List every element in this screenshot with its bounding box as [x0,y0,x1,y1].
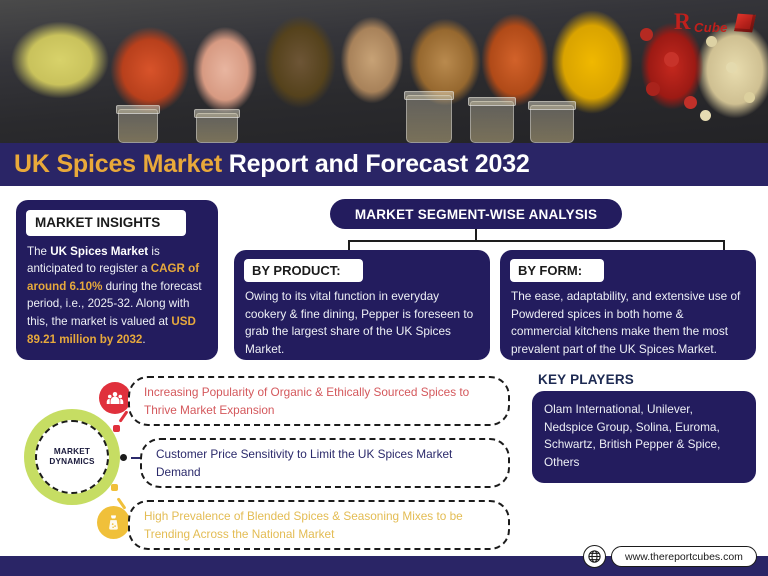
website-url: www.thereportcubes.com [625,551,743,563]
dynamics-dot-gold [111,484,118,491]
spice-blend-icon [97,506,130,539]
by-form-text: The ease, adaptability, and extensive us… [511,288,744,359]
spice-jar [118,109,158,143]
logo-r-mark: Я [674,10,691,33]
white-peppercorn [744,92,755,103]
dynamics-item-2-text: Customer Price Sensitivity to Limit the … [142,445,508,482]
insights-market-name: UK Spices Market [50,245,148,258]
white-peppercorn [700,110,711,121]
spice-jar [406,95,452,143]
by-product-text: Owing to its vital function in everyday … [245,288,478,359]
by-product-label: BY PRODUCT: [244,259,363,282]
market-dynamics-line2: DYNAMICS [49,457,94,467]
market-insights-card: MARKET INSIGHTS The UK Spices Market is … [16,200,218,360]
key-players-card: Olam International, Unilever, Nedspice G… [532,391,756,483]
dynamics-item-3-text: High Prevalence of Blended Spices & Seas… [130,507,508,544]
globe-icon [583,545,606,568]
connector-bar [348,240,725,242]
peppercorn [646,82,660,96]
segment-card-by-form: BY FORM: The ease, adaptability, and ext… [500,250,756,360]
logo-wordmark: Cube [694,20,728,35]
peppercorn [684,96,697,109]
market-insights-body: The UK Spices Market is anticipated to r… [27,243,207,349]
website-url-pill[interactable]: www.thereportcubes.com [611,546,757,567]
cube-icon [734,14,756,33]
insights-text-g: . [142,333,145,346]
infographic-page: Я Cube UK Spices Market Report and Forec… [0,0,768,576]
segment-analysis-label: MARKET SEGMENT-WISE ANALYSIS [355,207,597,222]
dynamics-item-2: Customer Price Sensitivity to Limit the … [140,438,510,488]
market-dynamics-inner: MARKET DYNAMICS [35,420,109,494]
market-dynamics-line1: MARKET [54,447,90,457]
peppercorn [664,52,679,67]
insights-text-a: The [27,245,50,258]
peppercorn [640,28,653,41]
group-people-icon [99,382,131,414]
page-title-highlight: UK Spices Market [14,150,222,178]
key-players-list: Olam International, Unilever, Nedspice G… [544,401,744,472]
dynamics-item-1-text: Increasing Popularity of Organic & Ethic… [130,383,508,420]
white-peppercorn [726,62,737,73]
page-title: UK Spices Market Report and Forecast 203… [0,150,530,179]
market-dynamics-circle: MARKET DYNAMICS [24,409,120,505]
spice-jar [196,113,238,143]
key-players-heading: KEY PLAYERS [538,372,634,387]
market-insights-heading: MARKET INSIGHTS [26,210,186,236]
title-bar: UK Spices Market Report and Forecast 203… [0,143,768,186]
segment-analysis-header: MARKET SEGMENT-WISE ANALYSIS [330,199,622,229]
dynamics-item-3: High Prevalence of Blended Spices & Seas… [128,500,510,550]
hero-spice-photo: Я Cube [0,0,768,143]
by-form-label: BY FORM: [510,259,604,282]
spice-jar [530,105,574,143]
dynamics-dot-red [113,425,120,432]
segment-card-by-product: BY PRODUCT: Owing to its vital function … [234,250,490,360]
dynamics-dot-navy [120,454,127,461]
spice-jar [470,101,514,143]
dynamics-item-1: Increasing Popularity of Organic & Ethic… [128,376,510,426]
page-title-rest: Report and Forecast 2032 [222,150,530,178]
brand-logo[interactable]: Я Cube [672,6,758,46]
